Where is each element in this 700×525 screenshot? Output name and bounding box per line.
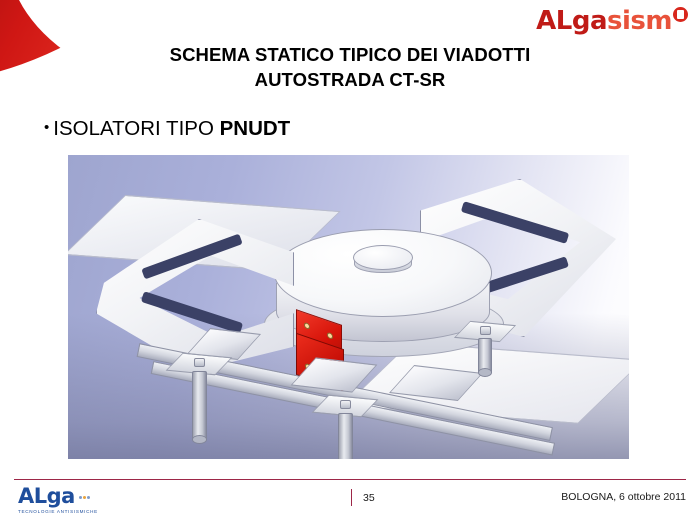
footer-logo-dot [83,496,86,499]
brand-logo: ALgasism [536,6,688,40]
brand-logo-part-alga: ALga [536,6,607,36]
page-number-group: 35 [351,489,375,506]
page-title: SCHEMA STATICO TIPICO DEI VIADOTTI AUTOS… [46,42,654,92]
bullet-list-item: •ISOLATORI TIPO PNUDT [44,115,290,142]
footer-logo-tagline: TECNOLOGIE ANTISISMICHE [18,509,138,514]
registered-badge-icon [673,7,688,22]
footer-logo-dots-icon [78,486,90,504]
footer-logo-word: ALga [18,484,75,508]
footer-divider [14,479,686,480]
brand-logo-part-sism: sism [607,6,672,36]
bullet-emphasis-text: PNUDT [220,117,291,140]
render-anchor-bolt-2 [338,413,353,459]
footer-logo: ALga TECNOLOGIE ANTISISMICHE [18,485,138,514]
render-nut-2 [340,400,351,409]
page-number-divider [351,489,352,506]
footer-logo-wordmark-row: ALga [18,485,138,508]
page-number: 35 [363,492,375,504]
render-rivet [327,332,333,340]
render-anchor-bolt-3 [478,338,492,374]
page-title-line-2: AUTOSTRADA CT-SR [46,67,654,92]
render-rivet [304,322,310,330]
isolator-render-image [68,155,629,459]
render-center-boss-top [353,245,413,270]
footer-logo-dot [87,496,90,499]
footer-date-location: BOLOGNA, 6 ottobre 2011 [561,491,686,503]
brand-logo-wordmark: ALgasism [536,6,672,36]
footer-logo-dot [79,496,82,499]
render-cylinder-top-face [274,229,492,317]
page-title-line-1: SCHEMA STATICO TIPICO DEI VIADOTTI [46,42,654,67]
render-nut-1 [194,358,205,367]
render-anchor-bolt-1 [192,371,207,441]
render-nut-3 [480,326,491,335]
bullet-text: ISOLATORI TIPO [53,117,219,140]
footer: ALga TECNOLOGIE ANTISISMICHE 35 BOLOGNA,… [0,482,700,525]
bullet-marker-icon: • [44,119,49,136]
